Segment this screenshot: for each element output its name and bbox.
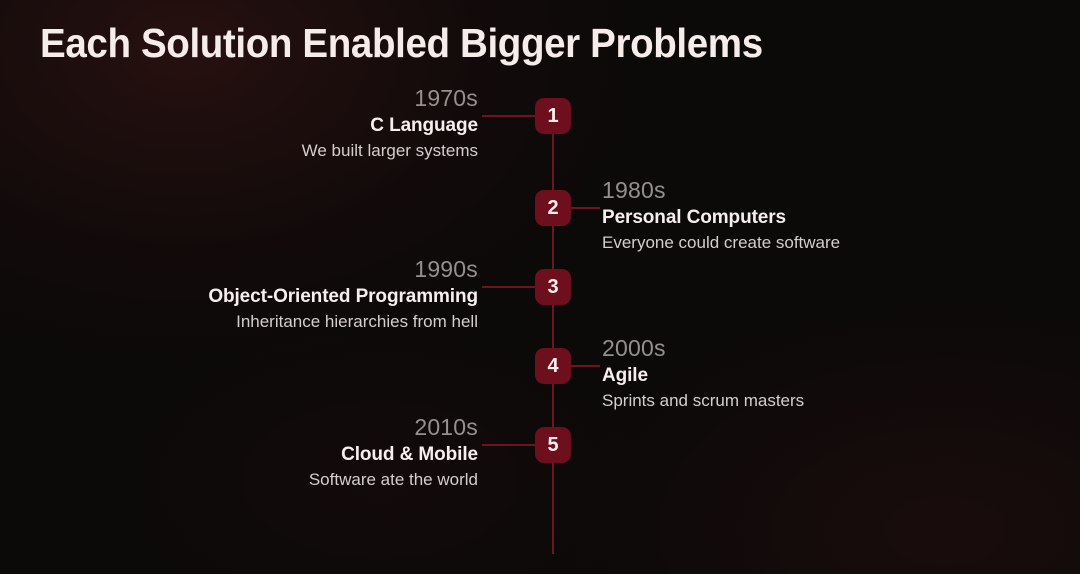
timeline-badge-3[interactable]: 3 (535, 269, 571, 305)
timeline-content-1: 1970s C Language We built larger systems (48, 84, 478, 163)
timeline-era-4: 2000s (602, 334, 1032, 362)
timeline-headline-2: Personal Computers (602, 205, 1032, 230)
timeline-era-1: 1970s (48, 84, 478, 112)
timeline-era-3: 1990s (48, 255, 478, 283)
timeline-badge-1[interactable]: 1 (535, 98, 571, 134)
timeline-headline-5: Cloud & Mobile (48, 442, 478, 467)
timeline-headline-1: C Language (48, 113, 478, 138)
timeline-badge-5[interactable]: 5 (535, 427, 571, 463)
timeline-connector-3 (482, 286, 536, 288)
timeline-badge-2[interactable]: 2 (535, 190, 571, 226)
timeline-spine (552, 116, 554, 554)
timeline-detail-5: Software ate the world (48, 468, 478, 492)
timeline: 1 1970s C Language We built larger syste… (0, 0, 1080, 574)
timeline-detail-4: Sprints and scrum masters (602, 389, 1032, 413)
timeline-connector-5 (482, 444, 536, 446)
timeline-era-5: 2010s (48, 413, 478, 441)
timeline-connector-1 (482, 115, 536, 117)
timeline-badge-4[interactable]: 4 (535, 348, 571, 384)
timeline-content-2: 1980s Personal Computers Everyone could … (602, 176, 1032, 255)
timeline-content-3: 1990s Object-Oriented Programming Inheri… (48, 255, 478, 334)
timeline-detail-3: Inheritance hierarchies from hell (48, 310, 478, 334)
timeline-headline-3: Object-Oriented Programming (48, 284, 478, 309)
timeline-era-2: 1980s (602, 176, 1032, 204)
timeline-headline-4: Agile (602, 363, 1032, 388)
timeline-content-4: 2000s Agile Sprints and scrum masters (602, 334, 1032, 413)
timeline-detail-1: We built larger systems (48, 139, 478, 163)
timeline-detail-2: Everyone could create software (602, 231, 1032, 255)
timeline-content-5: 2010s Cloud & Mobile Software ate the wo… (48, 413, 478, 492)
